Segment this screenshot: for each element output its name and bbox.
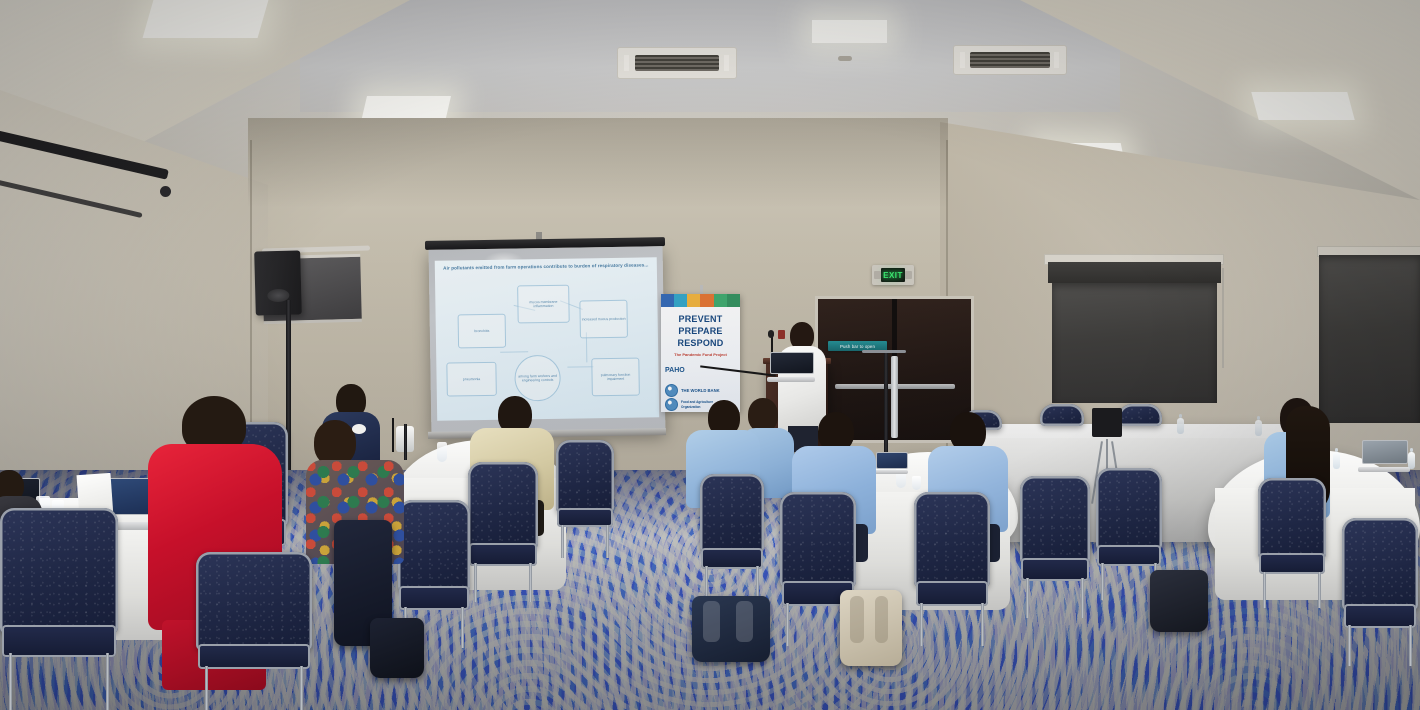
laptop[interactable] <box>876 452 906 474</box>
world-bank-logo-label: THE WORLD BANK <box>681 388 720 393</box>
banner-line-2: PREPARE <box>661 326 740 336</box>
roll-up-banner: PREVENT PREPARE RESPOND The Pandemic Fun… <box>661 294 740 412</box>
banquet-chair[interactable] <box>1040 404 1084 440</box>
banner-color-strip <box>661 294 740 307</box>
banner-pole <box>700 285 703 294</box>
hair-accessory <box>352 424 366 434</box>
presenter-laptop[interactable] <box>770 352 812 382</box>
world-bank-logo: THE WORLD BANK <box>665 384 720 397</box>
microphone-icon <box>768 330 774 338</box>
boom-stand-pole <box>404 424 407 460</box>
slide-node: mucus membrane inflammation <box>517 285 570 324</box>
blind-chain[interactable] <box>1222 268 1224 368</box>
ceiling-light-panel <box>1251 92 1355 120</box>
ceiling-light-panel <box>143 0 269 38</box>
slide-node-center: among farm workers and engineering contr… <box>514 355 561 402</box>
world-bank-logo-mark <box>665 384 678 397</box>
water-bottle <box>1408 452 1415 469</box>
slide-node: bronchitis <box>458 314 507 349</box>
banner-line-1: PREVENT <box>661 314 740 324</box>
camera-icon <box>1092 408 1122 437</box>
water-bottle <box>1255 420 1262 436</box>
conference-room-photo: Air pollutants emitted from farm operati… <box>0 0 1420 710</box>
smoke-detector-icon <box>838 56 852 61</box>
slide-node: pneumonia <box>446 362 497 397</box>
laptop[interactable] <box>1362 440 1406 472</box>
backpack <box>692 596 770 662</box>
ac-cassette-vent <box>617 47 737 79</box>
banquet-chair[interactable] <box>196 552 312 710</box>
banquet-chair[interactable] <box>1258 478 1326 608</box>
water-bottle <box>1177 418 1184 434</box>
banquet-chair[interactable] <box>0 508 118 710</box>
door-push-bar[interactable] <box>891 356 898 438</box>
backpack <box>840 590 902 666</box>
slide-node: increased mucus production <box>579 300 628 339</box>
banquet-chair[interactable] <box>1342 518 1418 666</box>
slide-node: pulmonary function impairment <box>591 358 640 397</box>
banner-subtitle: The Pandemic Fund Project <box>661 352 740 357</box>
ac-cassette-vent <box>953 45 1067 75</box>
rail-end-cap-icon <box>160 186 171 197</box>
wine-glass <box>437 442 447 462</box>
ceiling-light-panel <box>812 20 887 43</box>
banquet-chair[interactable] <box>1118 404 1162 440</box>
banquet-chair[interactable] <box>556 440 614 558</box>
banquet-chair[interactable] <box>468 462 538 602</box>
banquet-chair[interactable] <box>700 474 764 602</box>
exit-sign-label: EXIT <box>881 268 905 282</box>
fao-logo-mark <box>665 398 678 411</box>
blind-headrail <box>1048 262 1221 283</box>
backpack <box>1150 570 1208 632</box>
drinking-glass <box>912 476 921 490</box>
paho-logo: PAHO <box>665 368 685 373</box>
exit-sign: EXIT <box>872 265 914 285</box>
banquet-chair[interactable] <box>1020 476 1090 618</box>
pa-speaker <box>254 250 302 315</box>
light-stand-crossbar <box>862 350 906 353</box>
window-blind[interactable] <box>1052 283 1217 403</box>
banner-line-3: RESPOND <box>661 338 740 348</box>
slide-title: Air pollutants emitted from farm operati… <box>443 262 649 272</box>
paho-logo-label: PAHO <box>665 368 685 373</box>
wall-shadow <box>248 118 948 208</box>
banquet-chair[interactable] <box>914 492 990 646</box>
backpack <box>370 618 424 678</box>
